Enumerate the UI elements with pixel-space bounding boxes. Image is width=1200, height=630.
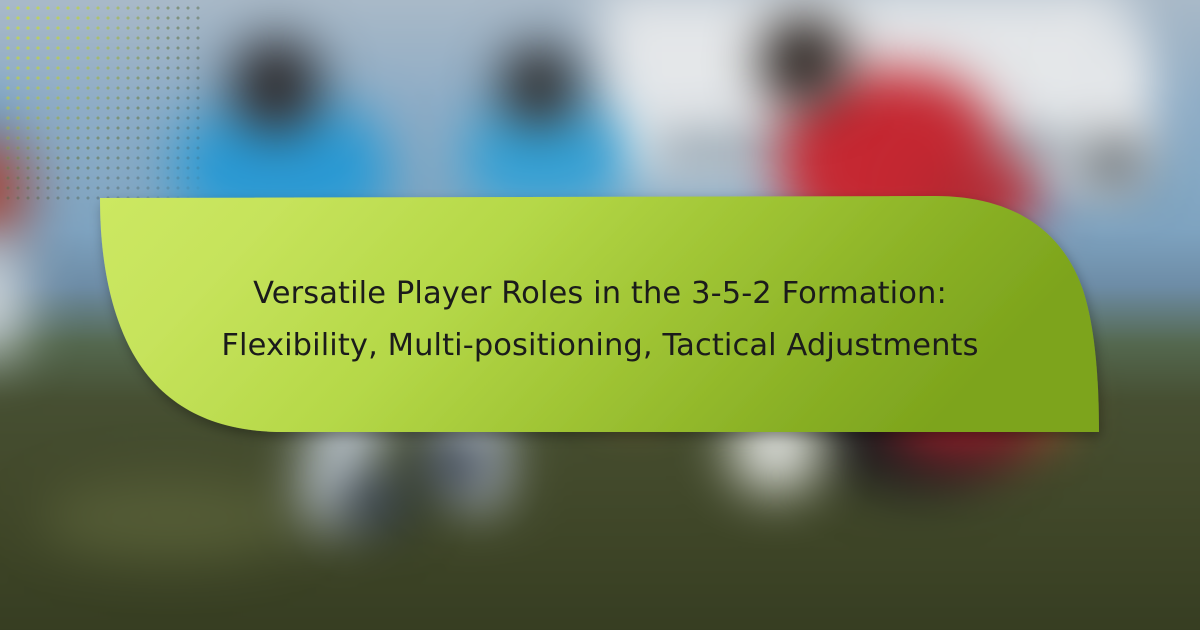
share-card: Versatile Player Roles in the 3-5-2 Form…	[0, 0, 1200, 630]
title-banner-shape	[0, 0, 1200, 630]
banner-background	[100, 196, 1099, 432]
